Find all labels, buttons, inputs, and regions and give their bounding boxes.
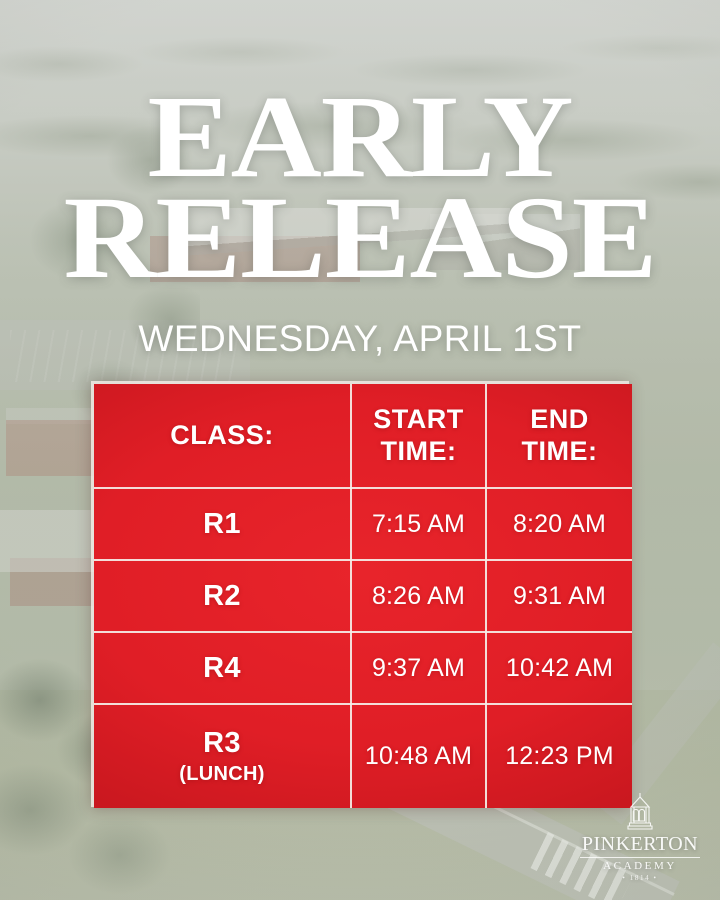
table-row: R1 7:15 AM 8:20 AM	[94, 488, 632, 560]
column-header-end-line2: TIME:	[487, 436, 632, 467]
column-header-start-time: START TIME:	[351, 384, 486, 488]
class-note: (LUNCH)	[94, 763, 350, 786]
column-header-end-time: END TIME:	[486, 384, 632, 488]
row-start-time: 9:37 AM	[351, 632, 486, 704]
row-end-time: 8:20 AM	[486, 488, 632, 560]
row-start-time: 10:48 AM	[351, 704, 486, 808]
column-header-class: CLASS:	[94, 384, 351, 488]
table-row: R3 (LUNCH) 10:48 AM 12:23 PM	[94, 704, 632, 808]
column-header-class-label: CLASS:	[170, 420, 274, 450]
logo-school-name: PINKERTON	[580, 834, 700, 854]
class-label: R2	[203, 580, 241, 612]
page-title: EARLY RELEASE	[0, 86, 720, 289]
schedule-table: CLASS: START TIME: END TIME:	[94, 384, 632, 808]
table-row: R4 9:37 AM 10:42 AM	[94, 632, 632, 704]
headline-line-2: RELEASE	[0, 187, 720, 288]
row-end-time: 9:31 AM	[486, 560, 632, 632]
poster-content: EARLY RELEASE WEDNESDAY, APRIL 1ST CLASS…	[0, 0, 720, 900]
class-label: R1	[203, 508, 241, 540]
row-class-name: R3 (LUNCH)	[94, 704, 351, 808]
column-header-start-line2: TIME:	[352, 436, 485, 467]
logo-founding-year: • 1814 •	[580, 875, 700, 882]
column-header-end-line1: END	[487, 404, 632, 435]
logo-school-sub: ACADEMY	[580, 857, 700, 872]
early-release-poster: EARLY RELEASE WEDNESDAY, APRIL 1ST CLASS…	[0, 0, 720, 900]
bell-tower-icon	[623, 792, 657, 832]
schedule-table-frame: CLASS: START TIME: END TIME:	[91, 381, 629, 807]
class-label: R4	[203, 652, 241, 684]
row-class-name: R2	[94, 560, 351, 632]
column-header-start-line1: START	[352, 404, 485, 435]
row-start-time: 7:15 AM	[351, 488, 486, 560]
row-class-name: R1	[94, 488, 351, 560]
event-date: WEDNESDAY, APRIL 1ST	[0, 318, 720, 360]
table-header-row: CLASS: START TIME: END TIME:	[94, 384, 632, 488]
row-start-time: 8:26 AM	[351, 560, 486, 632]
school-logo: PINKERTON ACADEMY • 1814 •	[580, 792, 700, 882]
table-row: R2 8:26 AM 9:31 AM	[94, 560, 632, 632]
row-end-time: 10:42 AM	[486, 632, 632, 704]
class-label: R3	[203, 727, 241, 759]
row-class-name: R4	[94, 632, 351, 704]
